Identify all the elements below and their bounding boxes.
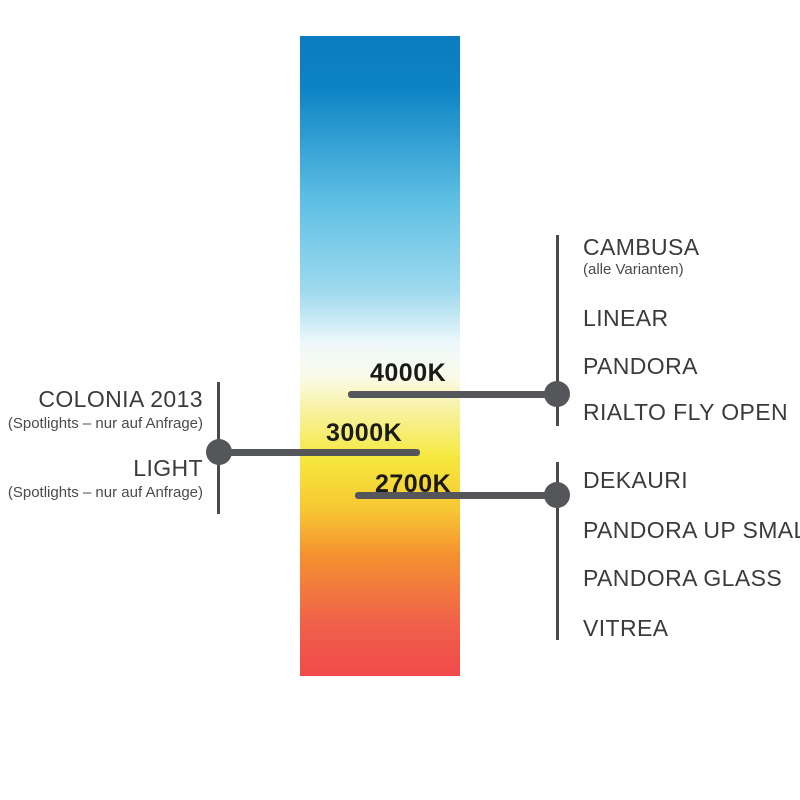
product-label-linear-text: LINEAR [583, 305, 668, 332]
product-label-rialto-fly-open: RIALTO FLY OPEN [583, 399, 788, 426]
product-label-pandora-glass: PANDORA GLASS [583, 565, 782, 592]
product-label-vitrea: VITREA [583, 615, 668, 642]
kelvin-scale-diagram: 4000K CAMBUSA (alle Varianten) LINEAR PA… [0, 0, 800, 800]
product-note-colonia-2013: (Spotlights – nur auf Anfrage) [8, 415, 203, 432]
product-label-pandora-up-small: PANDORA UP SMALL [583, 517, 800, 544]
product-label-light: LIGHT [133, 455, 203, 482]
temperature-label-3000k: 3000K [326, 419, 402, 448]
gradient-svg [300, 36, 460, 676]
marker-dot-4000k [544, 381, 570, 407]
product-label-cambusa: CAMBUSA [583, 234, 700, 261]
product-note-cambusa: (alle Varianten) [583, 261, 684, 278]
marker-dot-2700k [544, 482, 570, 508]
product-label-pandora: PANDORA [583, 353, 698, 380]
connector-3000k [224, 449, 420, 456]
marker-dot-3000k [206, 439, 232, 465]
color-temperature-gradient-bar [300, 36, 460, 676]
connector-4000k [348, 391, 562, 398]
product-label-dekauri: DEKAURI [583, 467, 688, 494]
temperature-label-2700k: 2700K [375, 470, 451, 499]
product-label-colonia-2013: COLONIA 2013 [38, 386, 203, 413]
temperature-label-4000k: 4000K [370, 359, 446, 388]
right-top-rule [556, 235, 559, 396]
right-bottom-rule-lower [556, 495, 559, 640]
product-note-light: (Spotlights – nur auf Anfrage) [8, 484, 203, 501]
